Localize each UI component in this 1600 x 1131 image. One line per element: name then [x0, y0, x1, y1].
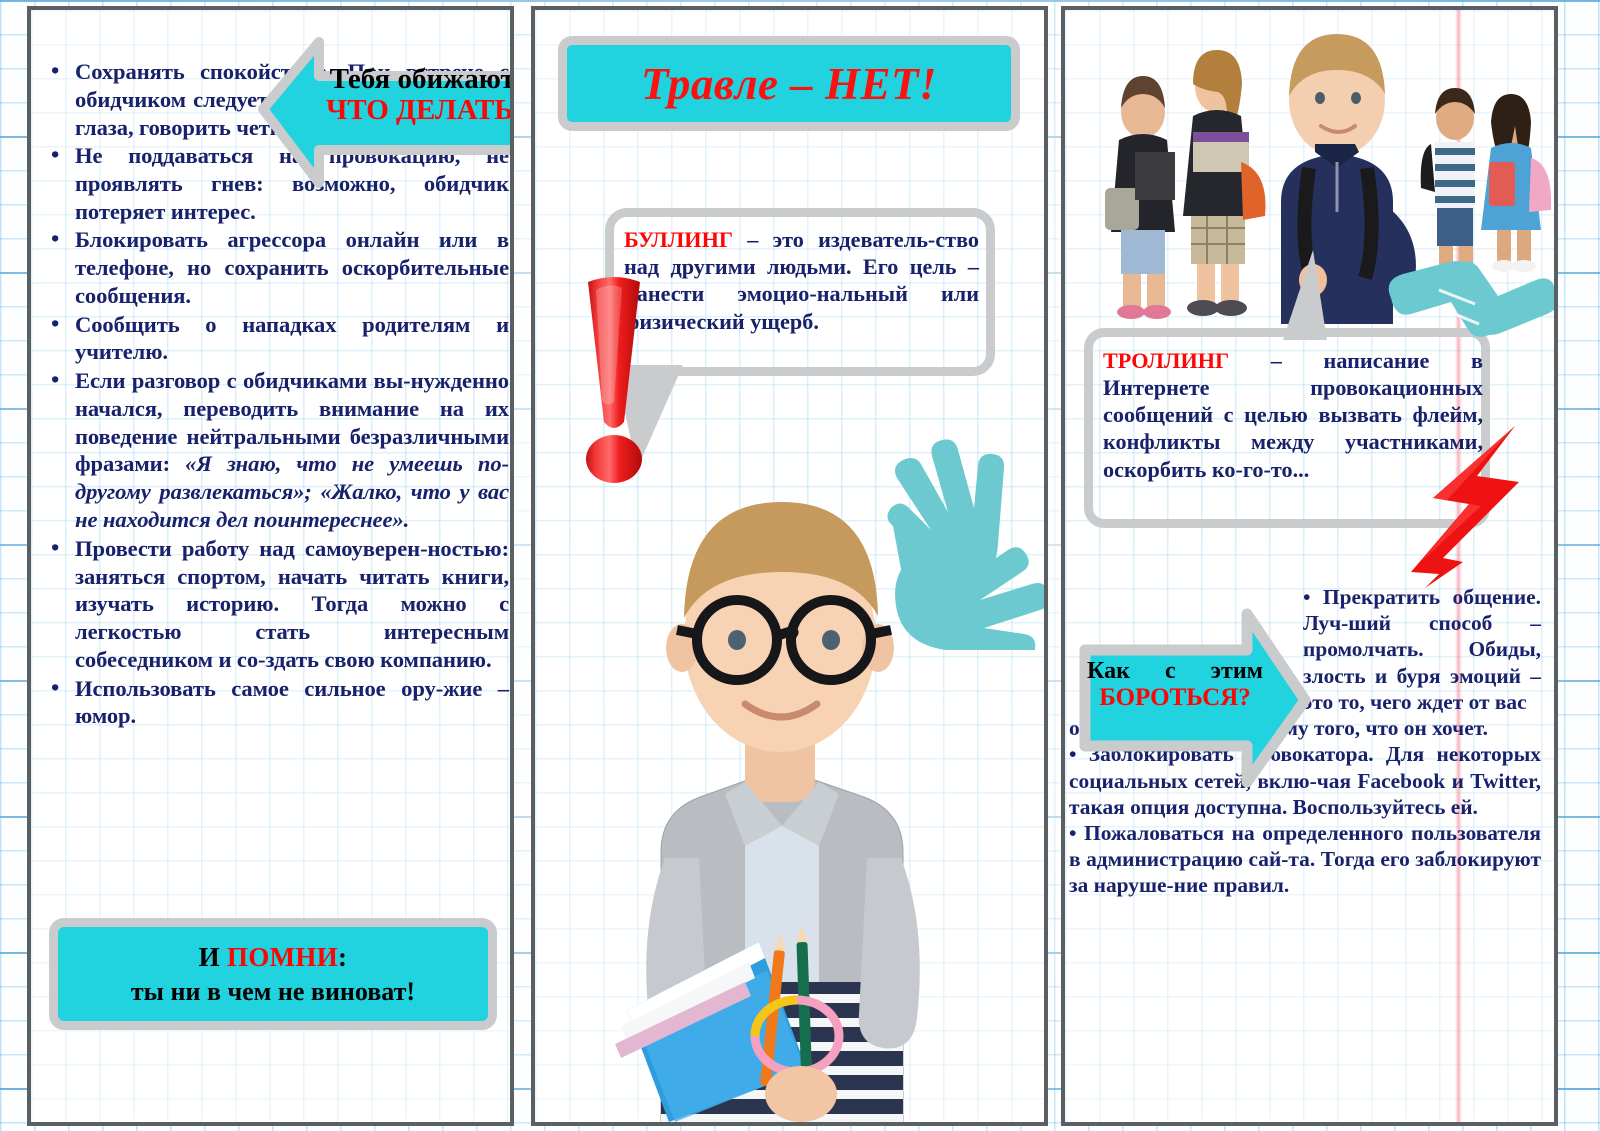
list-item: Использовать самое сильное ору-жие – юмо…	[41, 675, 509, 731]
exclamation-mark-icon	[566, 272, 662, 484]
trolling-keyword: ТРОЛЛИНГ	[1103, 348, 1229, 373]
what-to-do-arrow-banner: Тебя обижают: ЧТО ДЕЛАТЬ?	[257, 28, 514, 203]
list-item: Блокировать агрессора онлайн или в телеф…	[41, 226, 509, 310]
center-panel: Травле – НЕТ! БУЛЛИНГ – это издеватель-с…	[531, 6, 1048, 1126]
list-item: Провести работу над самоуверен-ностью: з…	[41, 535, 509, 674]
remember-subline: ты ни в чем не виноват!	[131, 977, 415, 1007]
lightning-bolt-icon	[1403, 422, 1523, 590]
left-panel: Сохранять спокойствие. При встрече с оби…	[27, 6, 514, 1126]
arrow-banner-line1: Тебя обижают:	[330, 63, 514, 95]
right-panel: ТРОЛЛИНГ – написание в Интернете провока…	[1061, 6, 1558, 1126]
remember-box: И ПОМНИ: ты ни в чем не виноват!	[49, 918, 497, 1030]
list-item-with-quotes: Если разговор с обидчиками вы-нужденно н…	[41, 367, 509, 534]
bullying-definition-text: БУЛЛИНГ – это издеватель-ство над другим…	[624, 226, 979, 335]
bullying-keyword: БУЛЛИНГ	[624, 227, 733, 252]
fight-banner-line2: БОРОТЬСЯ?	[1087, 684, 1263, 712]
page-title: Травле – НЕТ!	[641, 58, 937, 110]
list-item: Сообщить о нападках родителям и учителю.	[41, 311, 509, 367]
arrow-banner-label: Тебя обижают: ЧТО ДЕЛАТЬ?	[323, 64, 514, 127]
main-title-box: Травле – НЕТ!	[558, 36, 1020, 131]
trolling-bubble-tail	[1283, 250, 1327, 340]
how-to-fight-arrow-banner: Как с этим БОРОТЬСЯ?	[1061, 600, 1315, 800]
bullying-definition-bubble: БУЛЛИНГ – это издеватель-ство над другим…	[605, 208, 995, 376]
handshake-icon	[1383, 232, 1558, 382]
remember-headline: И ПОМНИ:	[199, 942, 348, 973]
remember-suffix: :	[338, 942, 347, 972]
tip-item-3: • Пожаловаться на определенного пользова…	[1065, 820, 1549, 899]
stop-hands-icon	[815, 430, 1048, 650]
arrow-banner-line2: ЧТО ДЕЛАТЬ?	[323, 95, 514, 126]
remember-prefix: И	[199, 942, 227, 972]
fight-banner-line1: Как с этим	[1087, 658, 1263, 684]
remember-highlight: ПОМНИ	[227, 942, 338, 972]
fight-banner-label: Как с этим БОРОТЬСЯ?	[1087, 658, 1263, 712]
